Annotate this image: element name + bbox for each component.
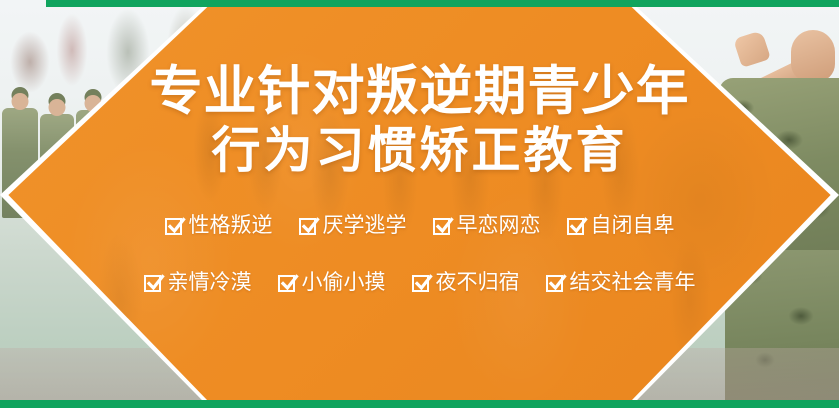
tag-item: 性格叛逆 [165,214,273,238]
checked-checkbox-icon [412,275,429,292]
tag-row-2: 亲情冷漠 小偷小摸 夜不归宿 [0,271,839,295]
checked-checkbox-icon [278,275,295,292]
tag-item: 早恋网恋 [433,214,541,238]
headline-line-1: 专业针对叛逆期青少年 [150,62,690,122]
checked-checkbox-icon [433,218,450,235]
tag-item: 自闭自卑 [567,214,675,238]
tag-item: 结交社会青年 [546,271,696,295]
checked-checkbox-icon [165,218,182,235]
tag-item: 小偷小摸 [278,271,386,295]
tag-list: 性格叛逆 厌学逃学 早恋网恋 [0,214,839,328]
tag-label: 夜不归宿 [436,271,520,295]
tag-row-1: 性格叛逆 厌学逃学 早恋网恋 [0,214,839,238]
banner-content: 专业针对叛逆期青少年 行为习惯矫正教育 性格叛逆 厌学逃学 [0,0,839,408]
tag-label: 小偷小摸 [302,271,386,295]
tag-label: 早恋网恋 [457,214,541,238]
tag-item: 亲情冷漠 [144,271,252,295]
promo-banner: 专业针对叛逆期青少年 行为习惯矫正教育 性格叛逆 厌学逃学 [0,0,839,408]
tag-label: 自闭自卑 [591,214,675,238]
tag-label: 结交社会青年 [570,271,696,295]
checked-checkbox-icon [546,275,563,292]
checked-checkbox-icon [567,218,584,235]
tag-item: 厌学逃学 [299,214,407,238]
headline: 专业针对叛逆期青少年 行为习惯矫正教育 [150,62,690,180]
checked-checkbox-icon [299,218,316,235]
tag-label: 亲情冷漠 [168,271,252,295]
tag-label: 性格叛逆 [189,214,273,238]
checked-checkbox-icon [144,275,161,292]
tag-label: 厌学逃学 [323,214,407,238]
tag-item: 夜不归宿 [412,271,520,295]
headline-line-2: 行为习惯矫正教育 [150,122,690,180]
